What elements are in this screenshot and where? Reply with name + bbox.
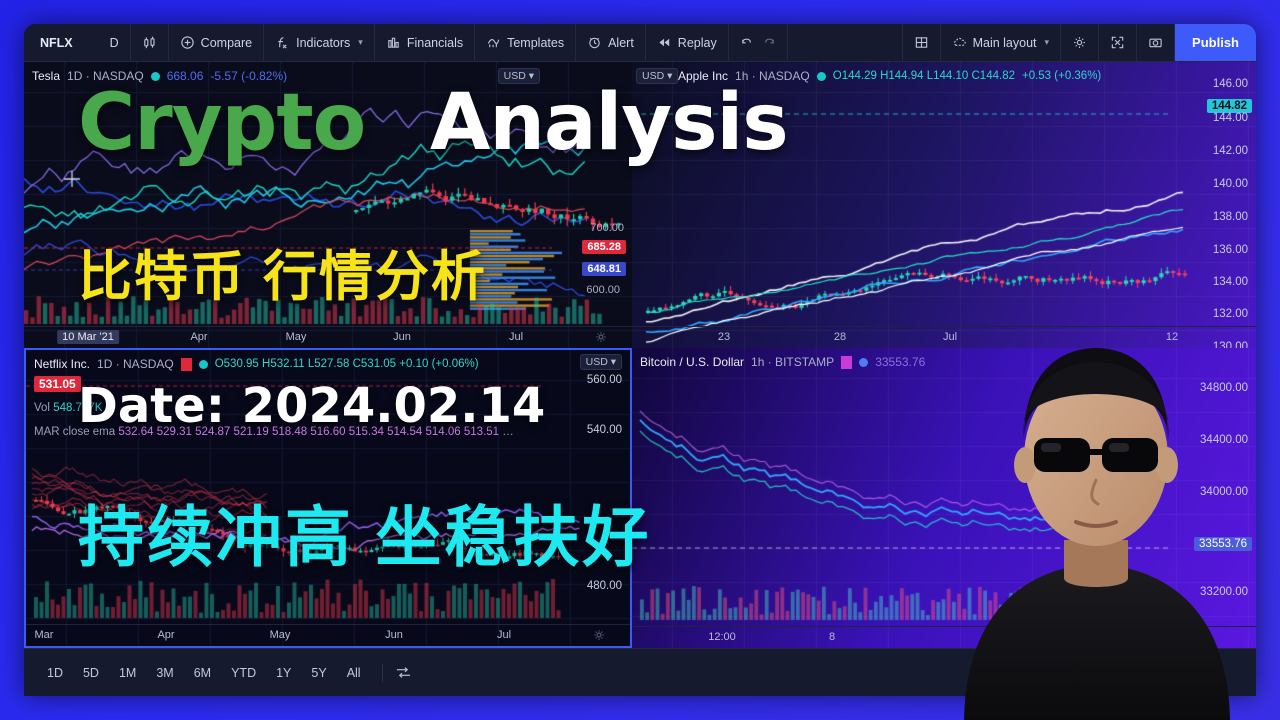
presenter-photo xyxy=(946,290,1246,720)
snapshot-button[interactable] xyxy=(1137,24,1175,61)
status-dot-icon xyxy=(859,358,868,367)
apple-xtick-0: 23 xyxy=(718,331,730,343)
financials-label: Financials xyxy=(407,36,463,50)
apple-ytick-6: 134.00 xyxy=(1213,276,1248,288)
timeframe-ytd[interactable]: YTD xyxy=(222,661,265,685)
overlay-date: Date: 2024.02.14 xyxy=(78,378,545,434)
layout-grid-button[interactable] xyxy=(903,24,941,61)
bitcoin-last-price: 33553.76 xyxy=(875,355,925,369)
templates-button[interactable]: Templates xyxy=(475,24,576,61)
netflix-header: Netflix Inc. 1D · NASDAQ O530.95 H532.11… xyxy=(34,354,626,374)
tesla-symbol-label[interactable]: Tesla xyxy=(32,69,60,83)
fullscreen-icon xyxy=(1110,35,1125,50)
timeframe-1d[interactable]: 1D xyxy=(38,661,72,685)
netflix-xtick-0: Mar xyxy=(35,629,54,641)
cloud-icon xyxy=(952,35,967,50)
apple-ytick-3: 140.00 xyxy=(1213,178,1248,190)
timeframe-3m[interactable]: 3M xyxy=(147,661,182,685)
undo-icon[interactable] xyxy=(740,35,755,50)
netflix-volume-label: Vol xyxy=(34,402,50,414)
date-range-icon[interactable] xyxy=(395,665,410,680)
publish-button[interactable]: Publish xyxy=(1175,24,1256,61)
replay-button[interactable]: Replay xyxy=(646,24,729,61)
tesla-low-tag: 648.81 xyxy=(582,262,626,276)
bitcoin-xtick-1: 8 xyxy=(829,631,835,643)
netflix-xtick-1: Apr xyxy=(157,629,174,641)
replay-icon xyxy=(657,35,672,50)
bitcoin-meta-label: 1h · BITSTAMP xyxy=(751,355,834,369)
timeframe-1m[interactable]: 1M xyxy=(110,661,145,685)
plus-circle-icon xyxy=(180,35,195,50)
gear-icon xyxy=(1072,35,1087,50)
fullscreen-button[interactable] xyxy=(1099,24,1137,61)
tesla-axis-settings-icon[interactable] xyxy=(594,330,608,344)
netflix-currency-label: USD xyxy=(586,356,608,368)
chevron-down-icon: ▾ xyxy=(358,37,363,48)
templates-label: Templates xyxy=(507,36,564,50)
bitcoin-symbol-label[interactable]: Bitcoin / U.S. Dollar xyxy=(640,355,744,369)
tesla-x-axis[interactable]: 10 Mar '21 Apr May Jun Jul xyxy=(24,326,632,348)
netflix-last-price-tag: 531.05 xyxy=(34,376,81,392)
symbol-button[interactable]: NFLX xyxy=(24,36,99,50)
indicators-button[interactable]: Indicators ▾ xyxy=(264,24,375,61)
chart-type-button[interactable] xyxy=(131,24,169,61)
status-dot-icon xyxy=(817,72,826,81)
tesla-xtick-3: Jun xyxy=(393,331,411,343)
magenta-marker-icon xyxy=(841,356,852,369)
interval-button[interactable]: D xyxy=(99,24,131,61)
netflix-xtick-2: May xyxy=(270,629,291,641)
down-marker-icon xyxy=(181,358,192,371)
top-toolbar: NFLX D Compare xyxy=(24,24,1256,62)
templates-icon xyxy=(486,35,501,50)
timeframe-5d[interactable]: 5D xyxy=(74,661,108,685)
netflix-xtick-3: Jun xyxy=(385,629,403,641)
netflix-axis-settings-icon[interactable] xyxy=(592,628,606,642)
netflix-meta-label: 1D · NASDAQ xyxy=(97,357,174,371)
apple-ohlc: O144.29 H144.94 L144.10 C144.82 xyxy=(833,70,1015,82)
tesla-xtick-4: Jul xyxy=(509,331,523,343)
function-icon xyxy=(275,35,290,50)
tesla-xtick-0: 10 Mar '21 xyxy=(57,330,119,344)
overlay-title-white: Analysis xyxy=(430,78,788,168)
netflix-currency-select[interactable]: USD ▾ xyxy=(580,354,622,370)
apple-ytick-5: 136.00 xyxy=(1213,244,1248,256)
apple-ytick-1: 144.00 xyxy=(1213,112,1248,124)
netflix-x-axis[interactable]: Mar Apr May Jun Jul xyxy=(26,624,630,646)
tesla-xtick-2: May xyxy=(286,331,307,343)
alert-label: Alert xyxy=(608,36,634,50)
timeframe-5y[interactable]: 5Y xyxy=(302,661,335,685)
compare-button[interactable]: Compare xyxy=(169,24,264,61)
tesla-xtick-1: Apr xyxy=(190,331,207,343)
compare-label: Compare xyxy=(201,36,252,50)
indicators-label: Indicators xyxy=(296,36,350,50)
apple-ytick-4: 138.00 xyxy=(1213,211,1248,223)
timeframe-all[interactable]: All xyxy=(338,661,370,685)
financials-button[interactable]: Financials xyxy=(375,24,475,61)
tesla-label-700: 700.00 xyxy=(590,222,624,234)
bar-chart-icon xyxy=(386,35,401,50)
apple-xtick-1: 28 xyxy=(834,331,846,343)
netflix-xtick-4: Jul xyxy=(497,629,511,641)
candlestick-icon xyxy=(142,35,157,50)
redo-icon[interactable] xyxy=(761,35,776,50)
settings-button[interactable] xyxy=(1061,24,1099,61)
main-layout-label: Main layout xyxy=(973,36,1037,50)
tesla-high-tag: 685.28 xyxy=(582,240,626,254)
netflix-ytick-0: 560.00 xyxy=(587,374,622,386)
overlay-subtitle: 比特币 行情分析 xyxy=(78,232,487,311)
thumbnail-background: NFLX D Compare xyxy=(0,0,1280,720)
alarm-clock-icon xyxy=(587,35,602,50)
netflix-symbol-label[interactable]: Netflix Inc. xyxy=(34,357,90,371)
apple-change: +0.53 (+0.36%) xyxy=(1022,70,1101,82)
apple-ytick-2: 142.00 xyxy=(1213,145,1248,157)
replay-label: Replay xyxy=(678,36,717,50)
overlay-title-green: Crypto xyxy=(78,78,365,168)
netflix-ytick-2: 480.00 xyxy=(587,580,622,592)
netflix-ohlc: O530.95 H532.11 L527.58 C531.05 +0.10 (+… xyxy=(215,358,479,370)
netflix-ytick-1: 540.00 xyxy=(587,424,622,436)
bitcoin-xtick-0: 12:00 xyxy=(708,631,736,643)
alert-button[interactable]: Alert xyxy=(576,24,646,61)
toolbar-divider xyxy=(382,664,383,682)
timeframe-1y[interactable]: 1Y xyxy=(267,661,300,685)
layout-grid-icon xyxy=(914,35,929,50)
toolbar-spacer xyxy=(788,24,903,61)
undo-redo-group[interactable] xyxy=(729,24,788,61)
main-layout-button[interactable]: Main layout ▾ xyxy=(941,24,1061,61)
status-dot-icon xyxy=(199,360,208,369)
camera-icon xyxy=(1148,35,1163,50)
tesla-label-600: 600.00 xyxy=(586,284,620,296)
overlay-tagline: 持续冲高 坐稳扶好 xyxy=(78,484,651,580)
apple-last-price-tag: 144.82 xyxy=(1207,99,1252,113)
chevron-down-icon: ▾ xyxy=(1045,37,1050,48)
timeframe-6m[interactable]: 6M xyxy=(185,661,220,685)
